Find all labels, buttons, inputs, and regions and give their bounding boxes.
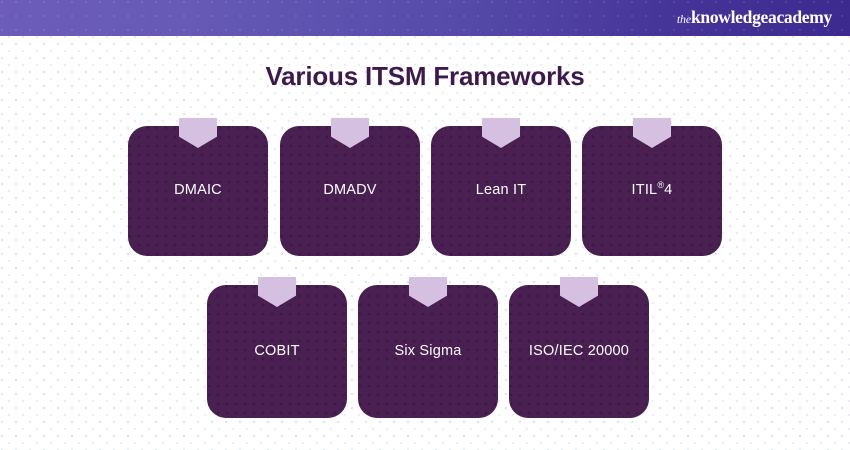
infographic-canvas: theknowledgeacademy Various ITSM Framewo…: [0, 0, 850, 450]
logo-main-text: knowledgeacademy: [691, 7, 832, 27]
bookmark-ribbon-icon: [179, 118, 217, 148]
bookmark-ribbon-icon: [258, 277, 296, 307]
logo-the-text: the: [677, 12, 691, 26]
framework-card-label: DMAIC: [168, 182, 228, 199]
framework-card-cobit[interactable]: COBIT: [207, 285, 347, 418]
framework-card-itil4[interactable]: ITIL®4: [582, 126, 722, 256]
framework-card-label: DMADV: [317, 182, 382, 199]
bookmark-ribbon-icon: [331, 118, 369, 148]
knowledge-academy-logo: theknowledgeacademy: [677, 9, 832, 27]
brand-header-bar: theknowledgeacademy: [0, 0, 850, 36]
bookmark-ribbon-icon: [633, 118, 671, 148]
framework-card-label: Six Sigma: [388, 343, 467, 360]
framework-card-label: ISO/IEC 20000: [523, 343, 635, 360]
framework-card-label: Lean IT: [470, 182, 533, 199]
framework-card-label: COBIT: [248, 343, 305, 360]
framework-card-dmaic[interactable]: DMAIC: [128, 126, 268, 256]
itil-name: ITIL: [632, 182, 658, 198]
bookmark-ribbon-icon: [560, 277, 598, 307]
page-title: Various ITSM Frameworks: [0, 61, 850, 92]
bookmark-ribbon-icon: [409, 277, 447, 307]
framework-card-six-sigma[interactable]: Six Sigma: [358, 285, 498, 418]
bookmark-ribbon-icon: [482, 118, 520, 148]
framework-card-dmadv[interactable]: DMADV: [280, 126, 420, 256]
framework-card-iso-iec-20000[interactable]: ISO/IEC 20000: [509, 285, 649, 418]
framework-card-lean-it[interactable]: Lean IT: [431, 126, 571, 256]
framework-card-label: ITIL®4: [626, 182, 679, 199]
itil-version: 4: [664, 182, 672, 198]
